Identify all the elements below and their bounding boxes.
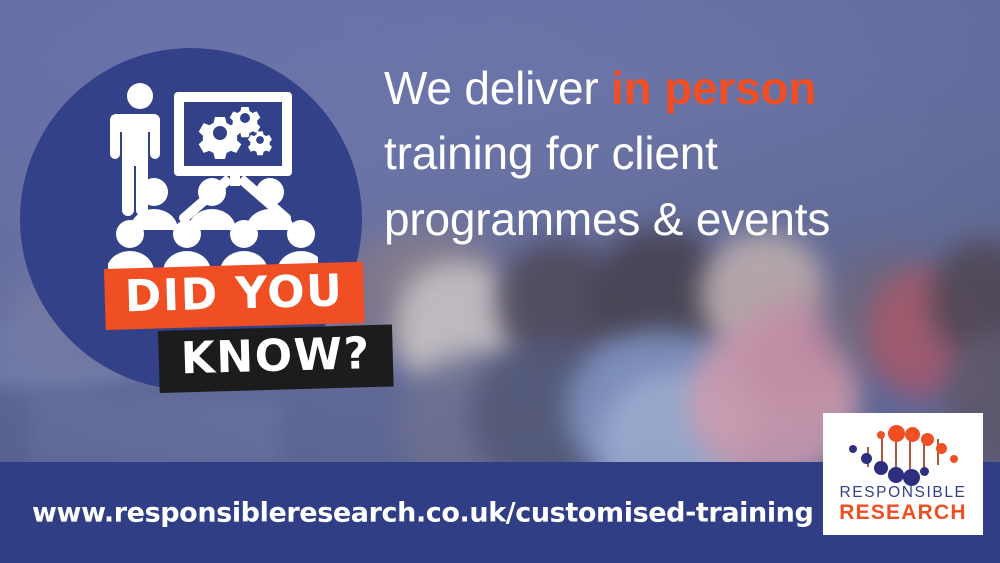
promo-graphic: DID YOU KNOW? We deliver in person train…	[0, 0, 1000, 563]
did-you-badge: DID YOU	[104, 262, 364, 330]
logo-dna-dots-icon	[837, 425, 969, 481]
logo-word-responsible: RESPONSIBLE	[839, 485, 966, 501]
headline-line-3: programmes & events	[384, 187, 984, 252]
headline-line-2: training for client	[384, 121, 984, 186]
headline-line-1-prefix: We deliver	[384, 62, 611, 114]
know-badge: KNOW?	[158, 324, 394, 393]
website-url[interactable]: www.responsibleresearch.co.uk/customised…	[32, 497, 813, 528]
responsible-research-logo[interactable]: RESPONSIBLE RESEARCH	[823, 413, 983, 535]
headline: We deliver in person training for client…	[384, 56, 984, 252]
logo-word-research: RESEARCH	[839, 502, 966, 523]
headline-highlight: in person	[611, 62, 816, 114]
headline-line-1: We deliver in person	[384, 56, 984, 121]
logo-wordmark: RESPONSIBLE RESEARCH	[839, 485, 966, 523]
